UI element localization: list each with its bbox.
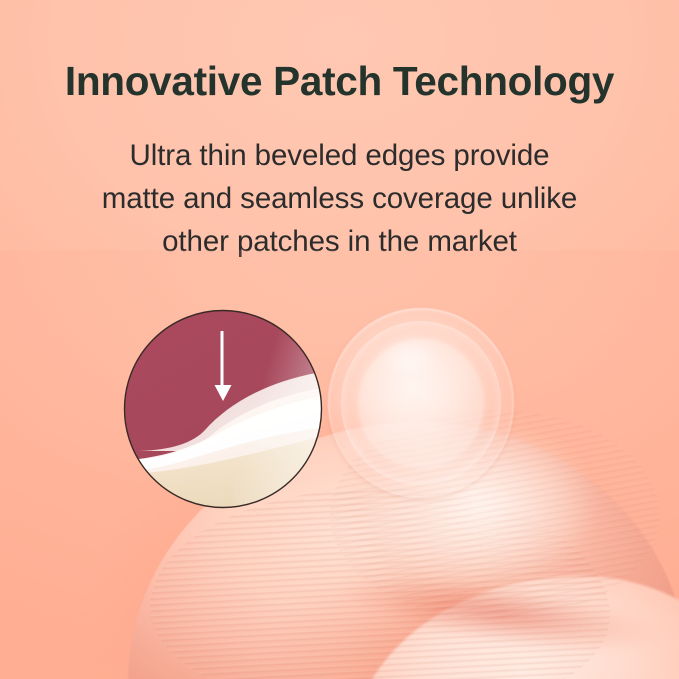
body-copy-line-2: matte and seamless coverage unlike [0,177,679,220]
cross-section-diagram [123,309,323,509]
layer-right-glow [233,309,323,509]
product-photo [0,250,679,679]
page-title: Innovative Patch Technology [0,60,679,103]
patch-gloss-highlight [365,327,454,388]
body-copy: Ultra thin beveled edges provide matte a… [0,134,679,263]
body-copy-line-1: Ultra thin beveled edges provide [0,134,679,177]
magnifier-circle [123,309,323,509]
product-feature-graphic: Innovative Patch Technology Ultra thin b… [0,0,679,679]
hydrocolloid-patch [328,308,514,498]
